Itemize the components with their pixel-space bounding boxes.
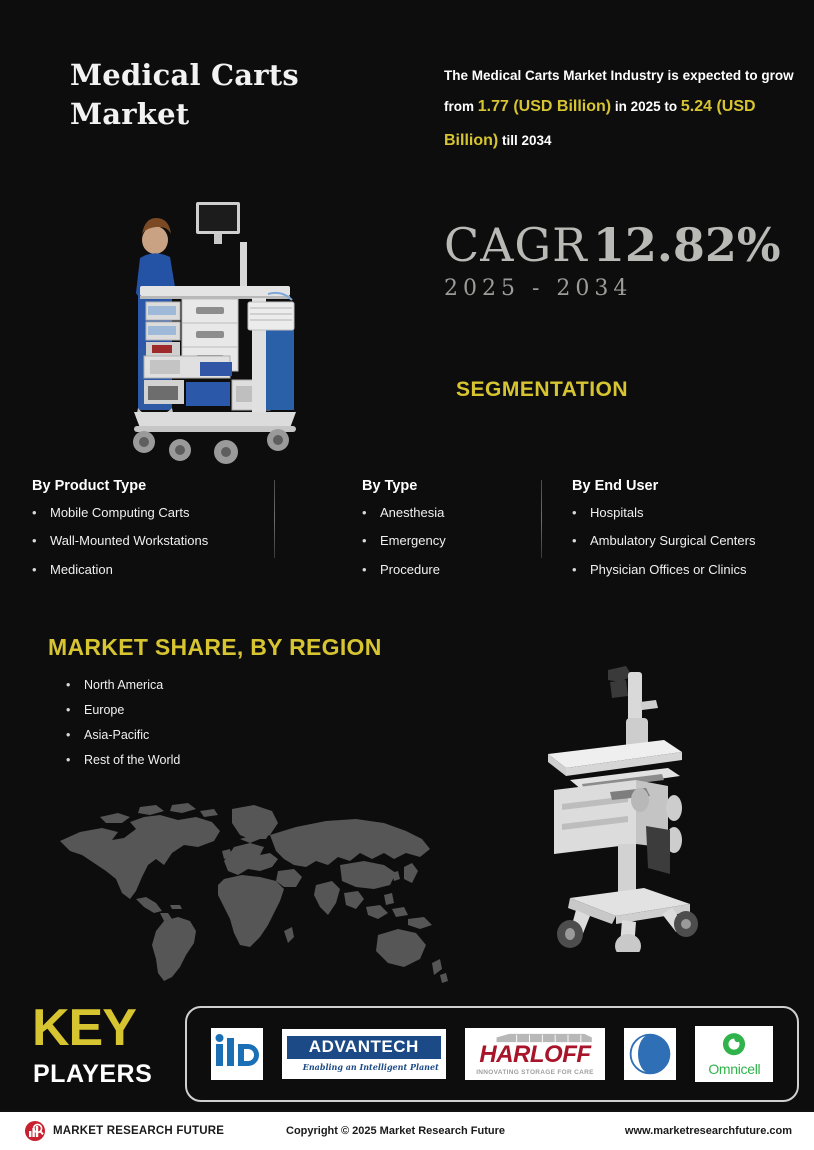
key-players-title-line1: KEY [32, 1004, 136, 1053]
footer-brand-label: MARKET RESEARCH FUTURE [53, 1125, 224, 1137]
bullet-icon: • [32, 505, 50, 521]
list-item-label: Medication [50, 562, 113, 578]
logo-afc: afc [624, 1028, 676, 1080]
harloff-wordmark: HARLOFF [479, 1043, 590, 1067]
cagr-value: 12.82% [593, 218, 781, 272]
segment-column-product-type: By Product Type •Mobile Computing Carts … [32, 478, 272, 590]
list-item: •Wall-Mounted Workstations [32, 533, 272, 549]
footer-brand: MARKET RESEARCH FUTURE [24, 1120, 224, 1142]
advantech-wordmark: ADVANTECH [287, 1036, 441, 1059]
footer-bar: MARKET RESEARCH FUTURE Copyright © 2025 … [0, 1110, 814, 1150]
list-item-label: Ambulatory Surgical Centers [590, 533, 755, 549]
bullet-icon: • [66, 753, 84, 768]
column-divider [274, 480, 275, 558]
list-item: •Ambulatory Surgical Centers [572, 533, 797, 549]
list-item: •Emergency [362, 533, 552, 549]
list-item-label: Hospitals [590, 505, 643, 521]
list-item-label: Europe [84, 703, 124, 718]
segment-column-type: By Type •Anesthesia •Emergency •Procedur… [362, 478, 552, 590]
cagr-block: CAGR 12.82% [444, 218, 781, 272]
segment-column-end-user: By End User •Hospitals •Ambulatory Surgi… [572, 478, 797, 590]
segmentation-columns: By Product Type •Mobile Computing Carts … [0, 478, 814, 598]
list-item: •North America [66, 678, 180, 693]
advantech-tagline: Enabling an Intelligent Planet [285, 1062, 443, 1072]
footer-copyright: Copyright © 2025 Market Research Future [286, 1125, 505, 1137]
bullet-icon: • [66, 678, 84, 693]
list-item: •Medication [32, 562, 272, 578]
list-item-label: Rest of the World [84, 753, 180, 768]
list-item: •Rest of the World [66, 753, 180, 768]
bullet-icon: • [362, 533, 380, 549]
svg-text:afc: afc [638, 1045, 662, 1064]
market-value-2025: 1.77 (USD Billion) [478, 98, 611, 115]
list-item-label: Wall-Mounted Workstations [50, 533, 208, 549]
bullet-icon: • [572, 533, 590, 549]
list-item: •Physician Offices or Clinics [572, 562, 797, 578]
list-item: •Anesthesia [362, 505, 552, 521]
list-item-label: North America [84, 678, 163, 693]
afc-logo-icon: afc [626, 1030, 674, 1078]
world-map-image [44, 795, 464, 995]
bullet-icon: • [572, 562, 590, 578]
cagr-label: CAGR [444, 218, 588, 272]
logo-itd [211, 1028, 263, 1080]
market-summary-text: The Medical Carts Market Industry is exp… [444, 62, 796, 158]
list-item-label: Mobile Computing Carts [50, 505, 189, 521]
bullet-icon: • [66, 703, 84, 718]
bullet-icon: • [362, 562, 380, 578]
logo-omnicell: Omnicell [695, 1026, 773, 1082]
region-heading: MARKET SHARE, BY REGION [48, 634, 382, 661]
logo-harloff: HARLOFF INNOVATING STORAGE FOR CARE [465, 1028, 605, 1080]
bullet-icon: • [66, 728, 84, 743]
list-item: •Asia-Pacific [66, 728, 180, 743]
key-players-title-line2: PLAYERS [33, 1062, 152, 1087]
key-players-logo-panel: ADVANTECH Enabling an Intelligent Planet… [185, 1006, 799, 1102]
logo-advantech: ADVANTECH Enabling an Intelligent Planet [282, 1029, 446, 1079]
list-item: •Hospitals [572, 505, 797, 521]
bullet-icon: • [32, 533, 50, 549]
bullet-icon: • [572, 505, 590, 521]
list-item: •Mobile Computing Carts [32, 505, 272, 521]
omnicell-mark-icon [717, 1031, 751, 1059]
bullet-icon: • [32, 562, 50, 578]
list-item-label: Anesthesia [380, 505, 444, 521]
itd-logo-icon [211, 1028, 263, 1080]
mobile-workstation-cart-image [540, 662, 738, 952]
segment-title: By End User [572, 478, 797, 494]
list-item-label: Asia-Pacific [84, 728, 149, 743]
omnicell-wordmark: Omnicell [708, 1061, 760, 1077]
infographic-page: Medical Carts Market The Medical Carts M… [0, 0, 814, 1150]
summary-part-3: till 2034 [498, 133, 551, 148]
medical-cart-with-nurse-image [100, 190, 320, 472]
footer-website-url[interactable]: www.marketresearchfuture.com [625, 1125, 792, 1137]
segment-title: By Type [362, 478, 552, 494]
cagr-year-range: 2025 - 2034 [444, 276, 632, 301]
region-list: •North America •Europe •Asia-Pacific •Re… [66, 678, 180, 778]
harloff-tagline: INNOVATING STORAGE FOR CARE [476, 1069, 594, 1076]
list-item-label: Emergency [380, 533, 446, 549]
segmentation-heading: SEGMENTATION [456, 378, 628, 402]
bullet-icon: • [362, 505, 380, 521]
market-research-future-logo-icon [24, 1120, 46, 1142]
page-title: Medical Carts Market [70, 56, 400, 134]
segment-title: By Product Type [32, 478, 272, 494]
list-item: •Procedure [362, 562, 552, 578]
list-item-label: Physician Offices or Clinics [590, 562, 747, 578]
list-item: •Europe [66, 703, 180, 718]
summary-part-2: in 2025 to [611, 99, 681, 114]
list-item-label: Procedure [380, 562, 440, 578]
